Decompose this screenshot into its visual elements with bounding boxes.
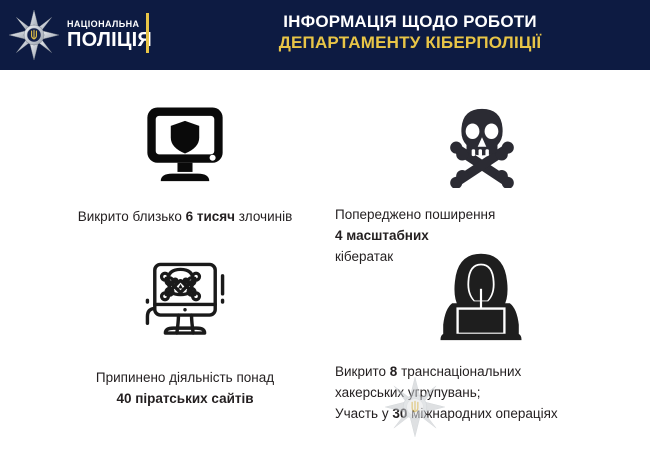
police-logo-wordmark: НАЦІОНАЛЬНА ПОЛІЦІЯ <box>67 20 152 50</box>
stat-text-crimes: Викрито близько 6 тисяч злочинів <box>40 207 330 228</box>
stat-line: Участь у 30 міжнародних операціях <box>335 404 635 425</box>
stat-line: Викрито 8 транснаціональних <box>335 362 635 383</box>
logo-line-police: ПОЛІЦІЯ <box>67 30 152 50</box>
stat-line: Припинено діяльність понад <box>40 368 330 389</box>
monitor-shield-icon <box>40 100 330 188</box>
stat-text-post: злочинів <box>235 209 292 224</box>
infographic-body: Викрито близько 6 тисяч злочинів <box>0 70 650 450</box>
monitor-skull-outline-icon <box>40 255 330 347</box>
stat-line: Попереджено поширення <box>335 205 635 226</box>
stat-value: 4 масштабних <box>335 228 429 243</box>
stat-block-crimes: Викрито близько 6 тисяч злочинів <box>40 100 330 228</box>
page-title: ІНФОРМАЦІЯ ЩОДО РОБОТИ ДЕПАРТАМЕНТУ КІБЕ… <box>180 11 640 54</box>
skull-crossbones-icon <box>335 100 635 188</box>
stat-value: 6 тисяч <box>186 209 235 224</box>
stat-value: 30 <box>392 406 407 421</box>
page-title-line-1: ІНФОРМАЦІЯ ЩОДО РОБОТИ <box>180 11 640 32</box>
police-star-badge-icon <box>8 9 60 61</box>
stat-block-cyberattacks: Попереджено поширення 4 масштабних кібер… <box>335 100 635 268</box>
gold-vertical-divider-icon <box>146 13 149 53</box>
stat-line: Викрито близько 6 тисяч злочинів <box>40 207 330 228</box>
stat-text-pirate-sites: Припинено діяльність понад 40 піратських… <box>40 368 330 410</box>
stat-line: 40 піратських сайтів <box>40 389 330 410</box>
logo-line-national: НАЦІОНАЛЬНА <box>67 20 152 29</box>
stat-block-pirate-sites: Припинено діяльність понад 40 піратських… <box>40 255 330 410</box>
stat-text-post: міжнародних операціях <box>407 406 557 421</box>
stat-block-hacker-groups: Викрито 8 транснаціональних хакерських у… <box>335 245 635 425</box>
stat-value: 40 піратських сайтів <box>116 391 253 406</box>
stat-text-hacker-groups: Викрито 8 транснаціональних хакерських у… <box>335 362 635 425</box>
hooded-hacker-laptop-icon <box>335 245 635 350</box>
stat-line: хакерських угрупувань; <box>335 383 635 404</box>
stat-line: 4 масштабних <box>335 226 635 247</box>
page-title-line-2: ДЕПАРТАМЕНТУ КІБЕРПОЛІЦІЇ <box>180 32 640 53</box>
stat-text-pre: Викрито близько <box>78 209 186 224</box>
stat-text-post: транснаціональних <box>397 364 521 379</box>
police-logo: НАЦІОНАЛЬНА ПОЛІЦІЯ <box>8 6 152 64</box>
stat-text-pre: Викрито <box>335 364 390 379</box>
stat-text-pre: Участь у <box>335 406 392 421</box>
page-header: НАЦІОНАЛЬНА ПОЛІЦІЯ ІНФОРМАЦІЯ ЩОДО РОБО… <box>0 0 650 70</box>
